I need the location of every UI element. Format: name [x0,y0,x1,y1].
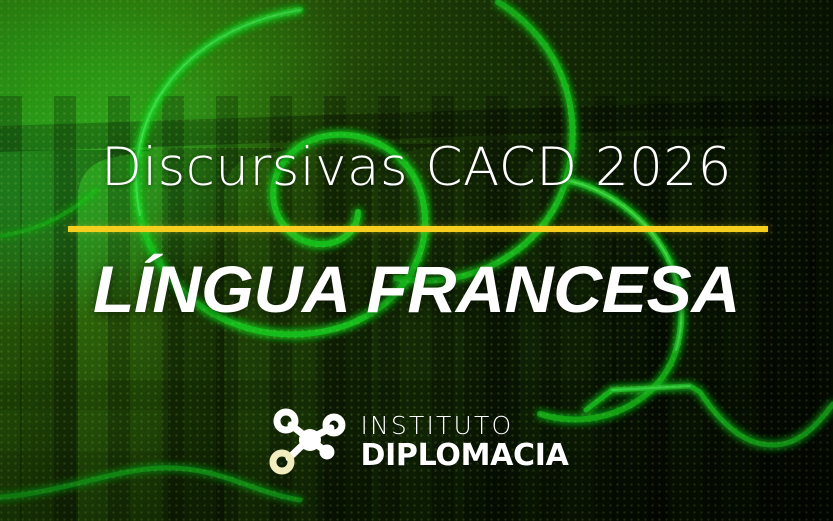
banner-title: LÍNGUA FRANCESA [0,256,833,322]
banner-subtitle: Discursivas CACD 2026 [0,141,833,194]
instituto-diplomacia-logo: INSTITUTO DIPLOMACIA [264,408,568,476]
logo-wordmark: INSTITUTO DIPLOMACIA [360,413,568,471]
banner-content: Discursivas CACD 2026 LÍNGUA FRANCESA [0,0,833,521]
logo-line-instituto: INSTITUTO [360,413,568,438]
logo-line-diplomacia: DIPLOMACIA [360,441,568,471]
molecule-network-icon [264,408,352,476]
yellow-divider-rule [68,226,768,232]
banner-root: Discursivas CACD 2026 LÍNGUA FRANCESA [0,0,833,521]
